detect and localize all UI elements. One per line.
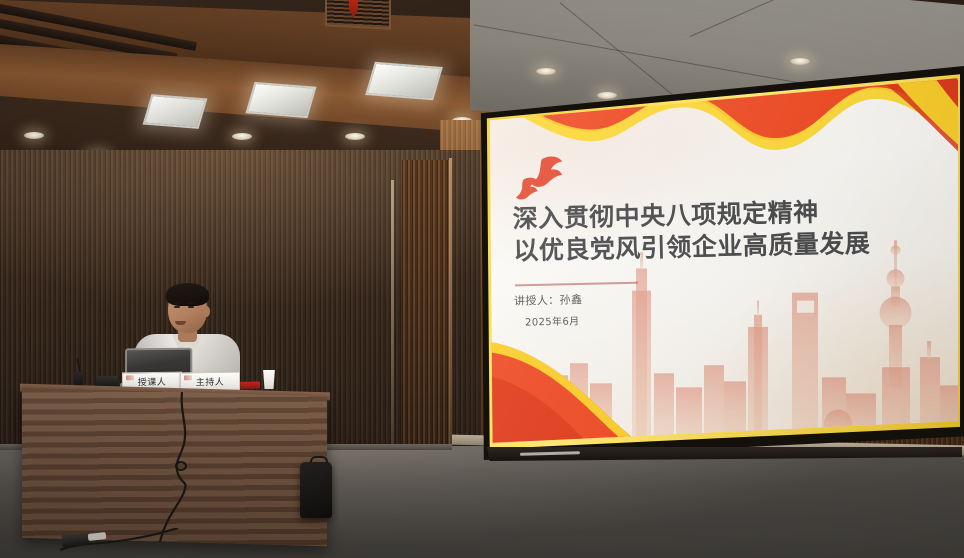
power-cable (150, 392, 210, 542)
slide-date: 2025年6月 (525, 313, 580, 329)
nameplate-logo-icon (126, 375, 134, 380)
projection-screen[interactable]: 深入贯彻中央八项规定精神 以优良党风引领企业高质量发展 讲授人：孙鑫 2025年… (486, 74, 958, 448)
recessed-light-panel (365, 62, 443, 101)
recessed-light-panel (143, 94, 208, 129)
recessed-downlight (345, 133, 365, 140)
recessed-downlight (24, 132, 44, 139)
ceiling-seam (690, 0, 849, 37)
ceiling-seams (470, 0, 964, 11)
speaker-brow-right (187, 302, 195, 304)
ceiling-air-vent (325, 0, 391, 30)
speaker-eye-left (174, 306, 180, 308)
pillar-vertical-light (391, 180, 394, 448)
speaker-ear (203, 306, 210, 317)
recessed-downlight (232, 133, 252, 140)
nameplate-host-label: 主持人 (196, 375, 225, 388)
conference-room-scene: 深入贯彻中央八项规定精神 以优良党风引领企业高质量发展 讲授人：孙鑫 2025年… (0, 0, 964, 558)
nameplate-logo-icon (184, 375, 192, 380)
recessed-downlight (790, 58, 810, 65)
presentation-slide[interactable]: 深入贯彻中央八项规定精神 以优良党风引领企业高质量发展 讲授人：孙鑫 2025年… (486, 74, 958, 448)
black-bag (300, 462, 332, 518)
recessed-downlight (597, 92, 617, 99)
red-dove-icon (511, 145, 572, 209)
slide-title: 深入贯彻中央八项规定精神 以优良党风引领企业高质量发展 (513, 195, 920, 267)
speaker-eye-right (188, 306, 194, 308)
slide-presenter: 讲授人：孙鑫 (514, 291, 583, 308)
recessed-downlight (536, 68, 556, 75)
speaker-brow-left (173, 302, 181, 304)
recessed-light-panel (245, 82, 316, 118)
wall-pillar (402, 160, 452, 460)
pillar-light-edge (449, 158, 452, 460)
